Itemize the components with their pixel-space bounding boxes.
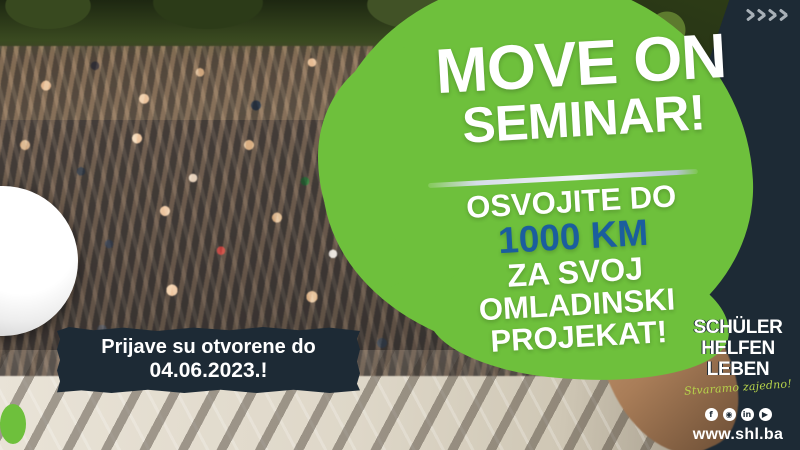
shl-logo-block: SCHÜLER HELFEN LEBEN Stvaramo zajedno! f…: [684, 318, 792, 444]
linkedin-icon[interactable]: in: [741, 408, 754, 421]
green-accent-sliver: [0, 404, 26, 444]
logo-line-leben: LEBEN: [684, 360, 792, 379]
logo-line-schuler: SCHÜLER: [684, 318, 792, 337]
chevron-right-icon: [756, 6, 766, 24]
chevron-right-icon: [778, 6, 788, 24]
poster-root: MOVE ON SEMINAR! OSVOJITE DO 1000 KM ZA …: [0, 0, 800, 450]
social-icons-group: f ◉ in ▶: [684, 408, 792, 421]
facebook-icon[interactable]: f: [705, 408, 718, 421]
logo-line-helfen: HELFEN: [684, 339, 792, 358]
headline-block: MOVE ON SEMINAR!: [401, 26, 762, 152]
youtube-icon[interactable]: ▶: [759, 408, 772, 421]
chevron-right-icon: [767, 6, 777, 24]
logo-tagline: Stvaramo zajedno!: [684, 377, 793, 398]
deadline-label: Prijave su otvorene do: [101, 336, 316, 360]
chevron-arrows-group: [745, 6, 788, 24]
website-url[interactable]: www.shl.ba: [684, 426, 792, 444]
green-accent-circle: [360, 236, 408, 288]
instagram-icon[interactable]: ◉: [723, 408, 736, 421]
deadline-date: 04.06.2023.!: [150, 359, 268, 384]
chevron-right-icon: [745, 6, 755, 24]
application-deadline-box: Prijave su otvorene do 04.06.2023.!: [57, 327, 360, 393]
